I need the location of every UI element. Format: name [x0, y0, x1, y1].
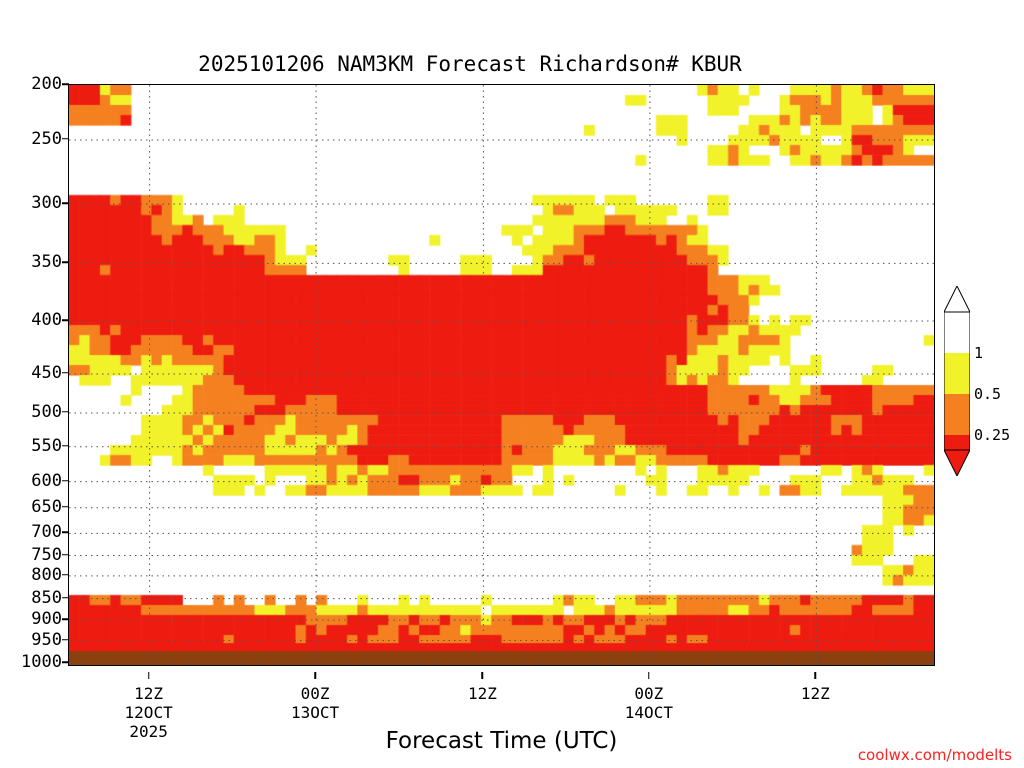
y-tick-label: 600 — [31, 471, 62, 491]
x-tick-label: 00Z14OCT — [625, 684, 673, 722]
x-tick-label: 12Z — [801, 684, 830, 703]
colorbar — [944, 286, 970, 476]
page-title: 2025101206 NAM3KM Forecast Richardson# K… — [0, 52, 940, 76]
x-tick-date: 12OCT — [125, 703, 173, 722]
colorbar-tick-label: 0.5 — [974, 385, 1001, 403]
credit-watermark: coolwx.com/modelts — [858, 746, 1012, 764]
plot-area — [68, 84, 935, 666]
x-tick-mark — [648, 672, 650, 679]
y-tick-label: 200 — [31, 74, 62, 94]
colorbar-band-red — [944, 435, 970, 450]
y-tick-label: 300 — [31, 193, 62, 213]
y-axis: 2002503003504004505005506006507007508008… — [0, 84, 62, 666]
colorbar-band-yellow — [944, 353, 970, 394]
x-tick-mark — [815, 672, 817, 679]
heatmap-canvas — [69, 85, 934, 665]
y-tick-label: 800 — [31, 565, 62, 585]
x-tick-label: 00Z13OCT — [291, 684, 339, 722]
y-tick-label: 400 — [31, 310, 62, 330]
x-tick-time: 00Z — [291, 684, 339, 703]
x-tick-time: 00Z — [625, 684, 673, 703]
y-tick-label: 650 — [31, 497, 62, 517]
x-tick-time: 12Z — [125, 684, 173, 703]
y-tick-label: 550 — [31, 436, 62, 456]
y-tick-label: 450 — [31, 363, 62, 383]
y-tick-label: 1000 — [21, 652, 62, 672]
x-tick-label: 12Z — [468, 684, 497, 703]
x-tick-mark — [314, 672, 316, 679]
x-tick-date: 13OCT — [291, 703, 339, 722]
y-tick-label: 750 — [31, 545, 62, 565]
x-tick-time: 12Z — [468, 684, 497, 703]
y-tick-label: 500 — [31, 402, 62, 422]
x-tick-mark — [482, 672, 484, 679]
y-tick-label: 850 — [31, 588, 62, 608]
y-tick-label: 350 — [31, 252, 62, 272]
y-tick-label: 700 — [31, 522, 62, 542]
x-tick-mark — [148, 672, 150, 679]
colorbar-tick-label: 1 — [974, 344, 983, 362]
x-tick-time: 12Z — [801, 684, 830, 703]
colorbar-bottom-arrow — [944, 450, 970, 476]
y-tick-label: 900 — [31, 609, 62, 629]
colorbar-top-arrow — [944, 286, 970, 312]
colorbar-band-orange — [944, 394, 970, 435]
x-tick-date: 14OCT — [625, 703, 673, 722]
y-tick-label: 950 — [31, 630, 62, 650]
colorbar-band-white — [944, 312, 970, 353]
colorbar-tick-label: 0.25 — [974, 426, 1010, 444]
chart-canvas: 2025101206 NAM3KM Forecast Richardson# K… — [0, 0, 1024, 768]
x-axis-title: Forecast Time (UTC) — [68, 728, 935, 754]
y-tick-label: 250 — [31, 129, 62, 149]
